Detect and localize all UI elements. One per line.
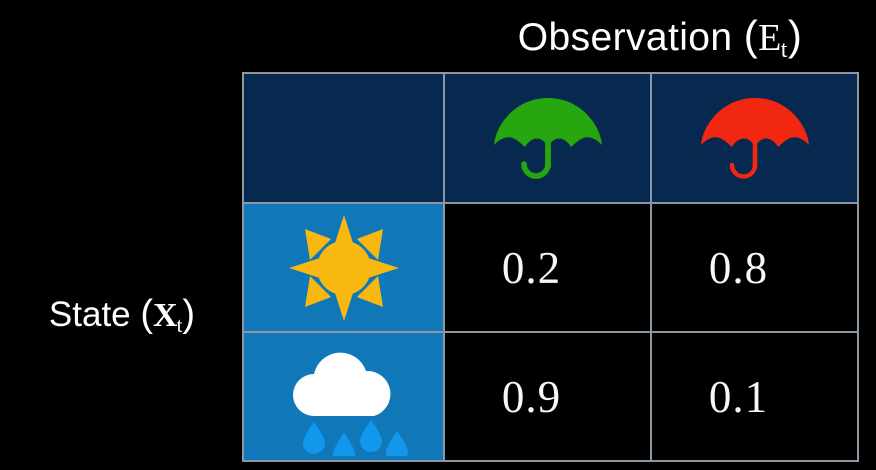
- probability-cell: 0.2: [444, 203, 651, 332]
- table-corner-cell: [243, 73, 444, 203]
- observation-label-subscript: t: [781, 37, 788, 63]
- umbrella-green-icon: [445, 74, 650, 202]
- umbrella-red-icon: [652, 74, 857, 202]
- state-label-prefix: State: [49, 295, 140, 334]
- header-cell-umbrella-red: [651, 73, 858, 203]
- state-label-variable: X: [153, 297, 178, 334]
- observation-label-close-paren: ): [788, 12, 802, 59]
- probability-cell: 0.1: [651, 332, 858, 461]
- header-cell-umbrella-green: [444, 73, 651, 203]
- state-label-open-paren: (: [140, 293, 153, 335]
- state-axis-label: State (Xt): [8, 288, 236, 340]
- state-label-close-paren: ): [182, 293, 195, 335]
- observation-label-prefix: Observation: [518, 16, 744, 59]
- probability-value: 0.8: [636, 242, 841, 294]
- row-header-cell-sun: [243, 203, 444, 332]
- table-row: 0.9 0.1: [243, 332, 858, 461]
- table-header-row: [243, 73, 858, 203]
- probability-value: 0.9: [429, 371, 634, 423]
- probability-value: 0.1: [636, 371, 841, 423]
- observation-label-variable: E: [758, 17, 782, 59]
- observation-label-open-paren: (: [744, 12, 758, 59]
- observation-axis-label: Observation (Et): [460, 8, 860, 63]
- probability-cell: 0.8: [651, 203, 858, 332]
- table-row: 0.2 0.8: [243, 203, 858, 332]
- sun-icon: [244, 204, 443, 331]
- probability-value: 0.2: [429, 242, 634, 294]
- probability-cell: 0.9: [444, 332, 651, 461]
- conditional-probability-table: 0.2 0.8: [242, 72, 859, 462]
- rain-cloud-icon: [244, 333, 443, 460]
- row-header-cell-rain: [243, 332, 444, 461]
